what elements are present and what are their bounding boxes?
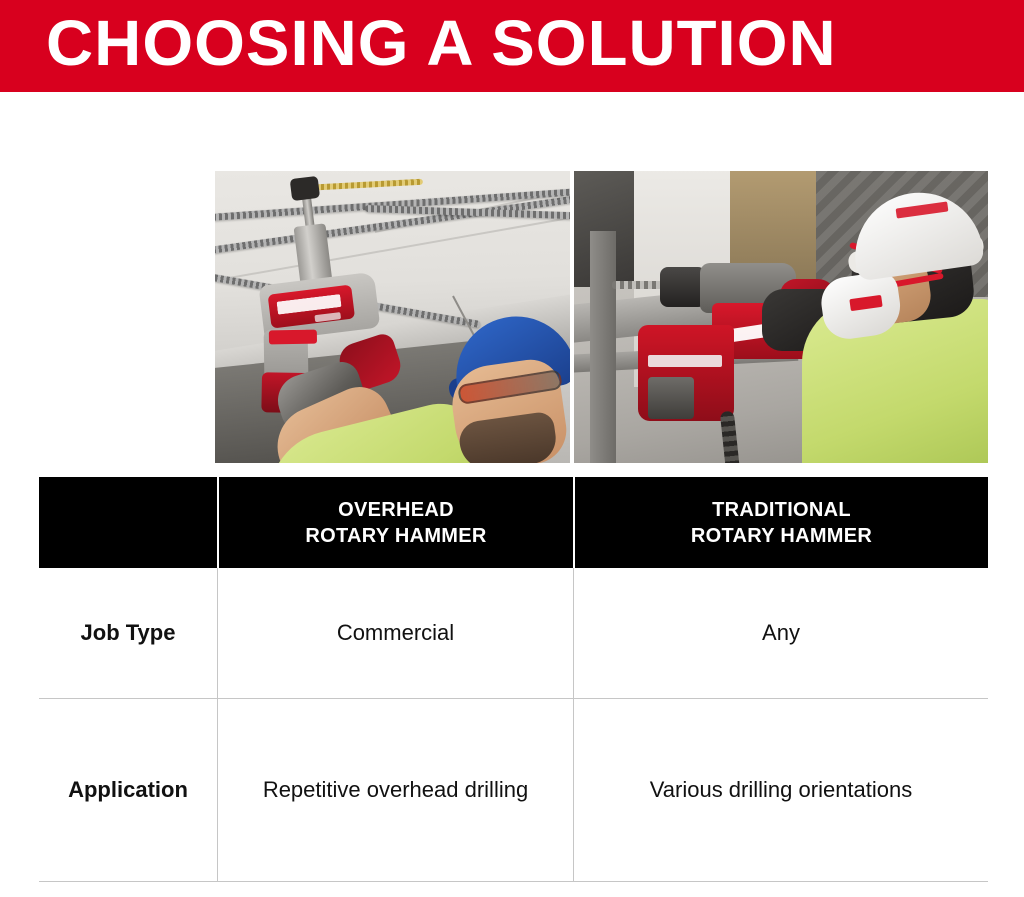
table-header-overhead: OVERHEAD ROTARY HAMMER [217, 477, 573, 568]
table-header-traditional-line1: TRADITIONAL [691, 497, 872, 523]
tool-red-band [269, 330, 317, 345]
table-header-blank-cell [39, 477, 217, 568]
traditional-rotary-hammer-photo [574, 171, 988, 463]
table-row: Application Repetitive overhead drilling… [39, 699, 988, 882]
dust-canister-window [648, 377, 694, 419]
cell-job-type-traditional: Any [573, 568, 988, 698]
comparison-table: OVERHEAD ROTARY HAMMER TRADITIONAL ROTAR… [39, 477, 988, 883]
photo-strip [215, 171, 988, 463]
table-row: Job Type Commercial Any [39, 568, 988, 699]
infographic-page: CHOOSING A SOLUTION [0, 0, 1024, 897]
cell-job-type-overhead: Commercial [217, 568, 573, 698]
table-header-traditional: TRADITIONAL ROTARY HAMMER [573, 477, 988, 568]
hammervac-badge-icon [648, 355, 722, 367]
row-label-application: Application [39, 699, 217, 881]
row-label-job-type: Job Type [39, 568, 217, 698]
vertical-post [590, 231, 616, 463]
page-title: CHOOSING A SOLUTION [46, 11, 837, 75]
table-header-overhead-line2: ROTARY HAMMER [305, 523, 486, 549]
table-header-overhead-line1: OVERHEAD [305, 497, 486, 523]
overhead-rotary-hammer-photo [215, 171, 570, 463]
dust-shroud [290, 176, 320, 201]
table-header-traditional-line2: ROTARY HAMMER [691, 523, 872, 549]
cell-application-traditional: Various drilling orientations [573, 699, 988, 881]
cell-application-overhead: Repetitive overhead drilling [217, 699, 573, 881]
table-header-row: OVERHEAD ROTARY HAMMER TRADITIONAL ROTAR… [39, 477, 988, 568]
header-banner: CHOOSING A SOLUTION [0, 0, 1024, 92]
